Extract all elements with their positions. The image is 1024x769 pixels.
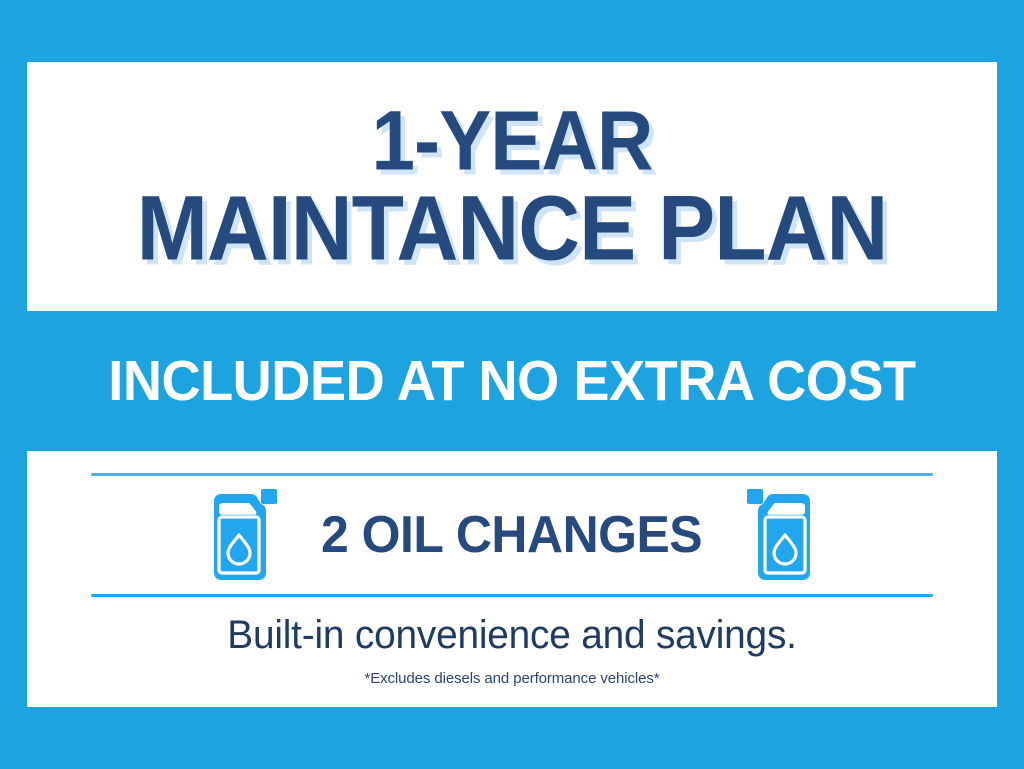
oil-jug-icon-left [205, 487, 279, 583]
oil-jug-icon-right [745, 487, 819, 583]
subtitle-band: INCLUDED AT NO EXTRA COST [0, 311, 1024, 451]
headline-panel: 1-YEAR MAINTANCE PLAN [27, 62, 997, 311]
fineprint-text: *Excludes diesels and performance vehicl… [27, 670, 997, 687]
offer-panel: 2 OIL CHANGES Built-in convenience and s… [27, 451, 997, 707]
headline-stack: 1-YEAR MAINTANCE PLAN [27, 100, 997, 273]
offer-row: 2 OIL CHANGES [27, 477, 997, 592]
subtitle-text: INCLUDED AT NO EXTRA COST [108, 348, 915, 414]
headline-line-1: 1-YEAR [61, 100, 963, 181]
offer-label: 2 OIL CHANGES [321, 505, 702, 565]
tagline-text: Built-in convenience and savings. [42, 613, 983, 658]
divider-bottom [91, 594, 933, 597]
headline-line-2: MAINTANCE PLAN [61, 185, 963, 273]
divider-top [91, 473, 933, 476]
promotional-poster: 1-YEAR MAINTANCE PLAN INCLUDED AT NO EXT… [0, 0, 1024, 769]
